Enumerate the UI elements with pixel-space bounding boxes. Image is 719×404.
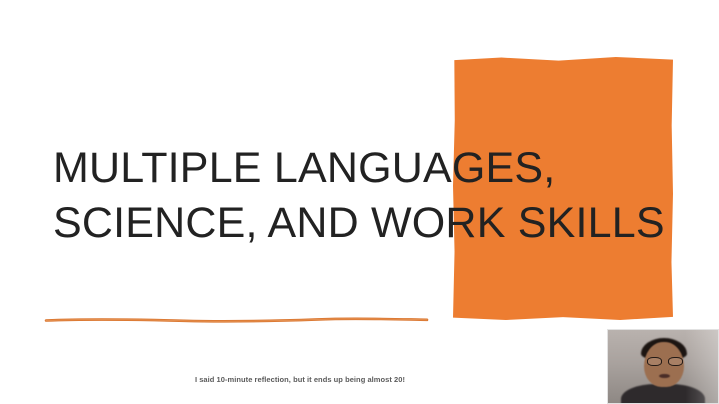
caption-subtitle-text: I said 10-minute reflection, but it ends… (0, 374, 600, 385)
title-underline-rule (44, 311, 429, 327)
presentation-slide: MULTIPLE LANGUAGES, SCIENCE, AND WORK SK… (0, 0, 719, 404)
webcam-person-mouth (659, 374, 670, 378)
webcam-glasses-right-lens (668, 357, 683, 366)
slide-title-line-1: MULTIPLE LANGUAGES, (53, 141, 653, 196)
slide-title: MULTIPLE LANGUAGES, SCIENCE, AND WORK SK… (53, 141, 653, 251)
webcam-video-feed (608, 330, 718, 403)
slide-title-line-2: SCIENCE, AND WORK SKILLS (53, 196, 653, 251)
webcam-light-gradient (685, 330, 718, 403)
presenter-webcam-overlay[interactable] (607, 329, 719, 404)
webcam-glasses-left-lens (647, 357, 662, 366)
